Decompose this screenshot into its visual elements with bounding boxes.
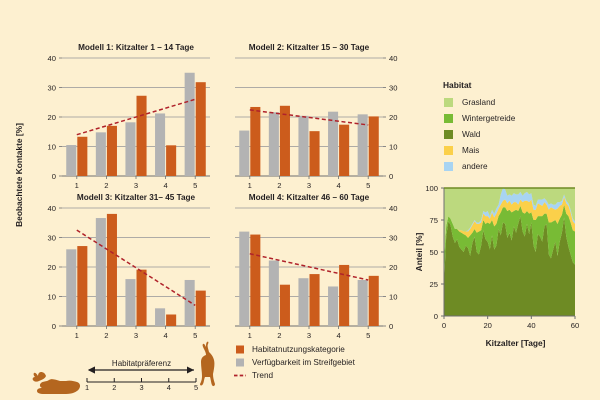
- y-tick-label: 0: [389, 322, 393, 331]
- preference-label: Habitatpräferenz: [112, 359, 171, 368]
- legend-label: Habitatnutzungskategorie: [252, 345, 345, 354]
- preference-tick-label: 4: [167, 383, 171, 392]
- left-y-axis-label: Beobachtete Kontakte [%]: [14, 123, 24, 227]
- bar-habitat-use: [250, 235, 260, 326]
- preference-tick-label: 3: [139, 383, 143, 392]
- y-tick-label: 30: [389, 83, 397, 92]
- bar-availability: [125, 279, 135, 326]
- x-tick-label: 3: [307, 331, 311, 340]
- trend-line: [77, 230, 195, 305]
- habitat-legend-swatch: [444, 98, 453, 107]
- x-tick-label: 2: [277, 331, 281, 340]
- y-tick-label: 20: [389, 113, 397, 122]
- habitat-legend-swatch: [444, 162, 453, 171]
- bar-habitat-use: [196, 82, 206, 176]
- standing-deer-icon: [200, 342, 215, 386]
- x-tick-label: 1: [75, 181, 79, 190]
- bar-habitat-use: [137, 96, 147, 176]
- bar-panel-modell-1: Modell 1: Kitzalter 1 – 14 Tage010203040…: [48, 43, 210, 190]
- area-x-tick-label: 0: [442, 321, 446, 330]
- bar-availability: [125, 122, 135, 176]
- bar-habitat-use: [107, 214, 117, 326]
- bar-habitat-use: [250, 107, 260, 176]
- x-tick-label: 5: [366, 331, 370, 340]
- lying-fawn-icon: [33, 372, 80, 394]
- bar-availability: [66, 145, 76, 176]
- bar-habitat-use: [280, 106, 290, 176]
- bar-availability: [298, 278, 308, 326]
- habitat-preference-scale: 12345Habitatpräferenz: [33, 342, 215, 394]
- y-tick-label: 10: [48, 292, 56, 301]
- x-tick-label: 4: [336, 331, 340, 340]
- legend-label: Verfügbarkeit im Streifgebiet: [252, 358, 356, 367]
- habitat-legend-swatch: [444, 114, 453, 123]
- y-tick-label: 10: [48, 142, 56, 151]
- bar-availability: [185, 280, 195, 326]
- bar-habitat-use: [369, 116, 379, 176]
- bar-availability: [155, 308, 165, 326]
- y-tick-label: 30: [48, 233, 56, 242]
- legend-swatch: [236, 346, 244, 354]
- bar-panel-modell-2: Modell 2: Kitzalter 15 – 30 Tage01020304…: [235, 43, 397, 190]
- x-tick-label: 2: [104, 181, 108, 190]
- panel-title: Modell 1: Kitzalter 1 – 14 Tage: [78, 43, 194, 52]
- habitat-legend-label: Mais: [462, 146, 479, 155]
- area-x-tick-label: 20: [483, 321, 491, 330]
- bar-availability: [96, 132, 106, 176]
- bar-habitat-use: [369, 276, 379, 326]
- y-tick-label: 10: [389, 142, 397, 151]
- bar-availability: [239, 131, 249, 176]
- bar-habitat-use: [166, 145, 176, 176]
- bar-panel-modell-4: Modell 4: Kitzalter 46 – 60 Tage01020304…: [235, 193, 397, 340]
- x-tick-label: 5: [193, 331, 197, 340]
- y-tick-label: 10: [389, 292, 397, 301]
- bar-habitat-use: [77, 246, 87, 326]
- trend-line: [250, 110, 368, 125]
- area-y-tick-label: 0: [434, 312, 438, 321]
- y-tick-label: 40: [48, 204, 56, 213]
- y-tick-label: 20: [389, 263, 397, 272]
- x-tick-label: 5: [366, 181, 370, 190]
- area-x-axis-label: Kitzalter [Tage]: [486, 338, 546, 348]
- panel-title: Modell 3: Kitzalter 31– 45 Tage: [77, 193, 196, 202]
- bar-availability: [328, 286, 338, 326]
- bar-habitat-use: [77, 137, 87, 176]
- x-tick-label: 1: [248, 181, 252, 190]
- y-tick-label: 30: [48, 83, 56, 92]
- area-y-axis-label: Anteil [%]: [414, 232, 424, 271]
- x-tick-label: 4: [336, 181, 340, 190]
- habitat-legend-swatch: [444, 146, 453, 155]
- y-tick-label: 20: [48, 113, 56, 122]
- habitat-legend-title: Habitat: [443, 80, 472, 90]
- area-x-tick-label: 60: [571, 321, 579, 330]
- bar-habitat-use: [107, 126, 117, 176]
- y-tick-label: 40: [48, 54, 56, 63]
- bar-availability: [155, 113, 165, 176]
- bar-habitat-use: [137, 270, 147, 326]
- x-tick-label: 1: [248, 331, 252, 340]
- y-tick-label: 0: [52, 322, 56, 331]
- stacked-area-chart: 02550751000204060Anteil [%]Kitzalter [Ta…: [414, 184, 579, 348]
- x-tick-label: 2: [277, 181, 281, 190]
- bar-habitat-use: [280, 285, 290, 326]
- bar-habitat-use: [166, 314, 176, 326]
- figure-root: Modell 1: Kitzalter 1 – 14 Tage010203040…: [0, 0, 600, 400]
- bar-availability: [66, 249, 76, 326]
- bar-habitat-use: [196, 291, 206, 326]
- area-y-tick-label: 75: [430, 216, 438, 225]
- x-tick-label: 3: [307, 181, 311, 190]
- x-tick-label: 3: [134, 331, 138, 340]
- y-tick-label: 40: [389, 54, 397, 63]
- legend-swatch: [236, 359, 244, 367]
- habitat-legend-label: Wintergetreide: [462, 114, 516, 123]
- area-y-tick-label: 25: [430, 280, 438, 289]
- habitat-legend-label: andere: [462, 162, 488, 171]
- x-tick-label: 5: [193, 181, 197, 190]
- y-tick-label: 0: [389, 172, 393, 181]
- habitat-legend: HabitatGraslandWintergetreideWaldMaisand…: [443, 80, 516, 171]
- x-tick-label: 2: [104, 331, 108, 340]
- y-tick-label: 30: [389, 233, 397, 242]
- x-tick-label: 4: [163, 331, 167, 340]
- bar-availability: [269, 112, 279, 176]
- y-tick-label: 20: [48, 263, 56, 272]
- bar-habitat-use: [339, 125, 349, 176]
- x-tick-label: 4: [163, 181, 167, 190]
- bar-availability: [269, 261, 279, 326]
- panel-title: Modell 2: Kitzalter 15 – 30 Tage: [249, 43, 370, 52]
- habitat-legend-label: Grasland: [462, 98, 496, 107]
- x-tick-label: 1: [75, 331, 79, 340]
- bar-availability: [298, 116, 308, 176]
- y-tick-label: 40: [389, 204, 397, 213]
- bar-habitat-use: [310, 274, 320, 326]
- bar-habitat-use: [310, 131, 320, 176]
- bar-availability: [239, 232, 249, 326]
- y-tick-label: 0: [52, 172, 56, 181]
- preference-tick-label: 5: [194, 383, 198, 392]
- panel-title: Modell 4: Kitzalter 46 – 60 Tage: [249, 193, 370, 202]
- bar-chart-legend: HabitatnutzungskategorieVerfügbarkeit im…: [234, 345, 356, 380]
- bar-availability: [96, 218, 106, 326]
- area-y-tick-label: 100: [425, 184, 438, 193]
- bar-availability: [358, 280, 368, 326]
- area-x-tick-label: 40: [527, 321, 535, 330]
- legend-label: Trend: [252, 371, 274, 380]
- preference-tick-label: 1: [85, 383, 89, 392]
- area-y-tick-label: 50: [430, 248, 438, 257]
- bar-panel-modell-3: Modell 3: Kitzalter 31– 45 Tage010203040…: [48, 193, 210, 340]
- preference-tick-label: 2: [112, 383, 116, 392]
- habitat-legend-label: Wald: [462, 130, 481, 139]
- figure-canvas: Modell 1: Kitzalter 1 – 14 Tage010203040…: [0, 0, 600, 400]
- bar-availability: [185, 73, 195, 176]
- x-tick-label: 3: [134, 181, 138, 190]
- habitat-legend-swatch: [444, 130, 453, 139]
